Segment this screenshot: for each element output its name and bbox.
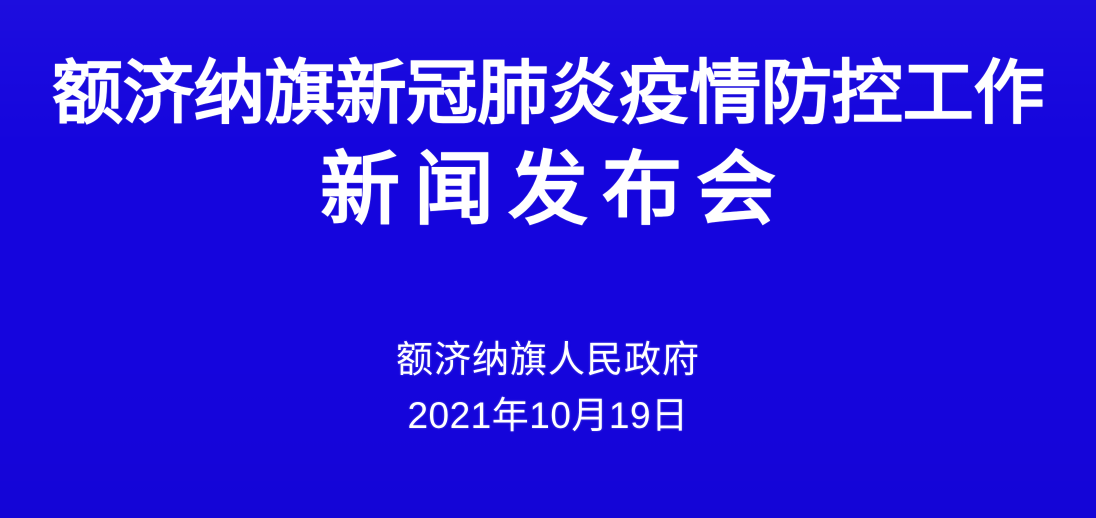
subtitle-block: 额济纳旗人民政府 2021年10月19日 [0, 341, 1096, 434]
presentation-slide: 额济纳旗新冠肺炎疫情防控工作 新闻发布会 额济纳旗人民政府 2021年10月19… [0, 0, 1096, 518]
slide-content: 额济纳旗新冠肺炎疫情防控工作 新闻发布会 额济纳旗人民政府 2021年10月19… [0, 0, 1096, 518]
slide-date: 2021年10月19日 [0, 397, 1096, 434]
headline-line-1: 额济纳旗新冠肺炎疫情防控工作 [0, 58, 1096, 128]
headline-block: 额济纳旗新冠肺炎疫情防控工作 新闻发布会 [0, 58, 1096, 230]
headline-line-2: 新闻发布会 [0, 150, 1096, 230]
issuing-organization: 额济纳旗人民政府 [0, 341, 1096, 378]
